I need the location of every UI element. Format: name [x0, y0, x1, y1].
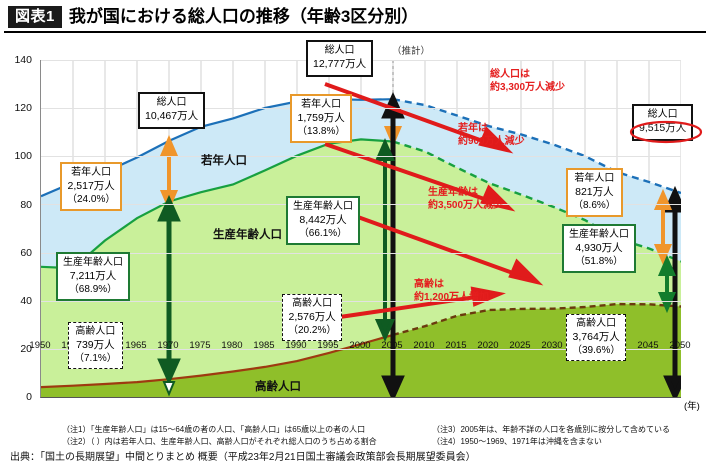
callout-working-2005-share: （66.1%） [299, 228, 347, 239]
callout-elderly-1970-label: 高齢人口 [75, 326, 115, 337]
gridline-120 [41, 108, 681, 109]
callout-working-2050-label: 生産年齢人口 [569, 229, 629, 240]
callout-working-2005: 生産年齢人口 8,442万人 （66.1%） [286, 196, 360, 245]
xtick-2045: 2045 [630, 340, 666, 351]
figure-badge: 図表1 [8, 6, 62, 28]
projection-tag: （推計） [392, 43, 430, 57]
callout-young-2050-value: 821万人 [575, 186, 614, 198]
callout-working-1970-share: （68.9%） [69, 284, 117, 295]
note-2: （注2）（ ）内は若年人口、生産年齢人口、高齢人口がそれぞれ総人口のうち占める割… [62, 436, 377, 448]
source-line: 出典：「国土の長期展望」中間とりまとめ 概要（平成23年2月21日国土審議会政策… [10, 448, 476, 463]
x-axis-unit: (年) [684, 398, 700, 412]
ytick-100: 100 [6, 150, 32, 162]
series-label-elderly: 高齢人口 [255, 378, 301, 394]
callout-working-2050: 生産年齢人口 4,930万人 （51.8%） [562, 224, 636, 273]
note-3: （注3）2005年は、年齢不詳の人口を各歳別に按分して含めている [432, 424, 670, 436]
xtick-1965: 1965 [118, 340, 154, 351]
xtick-2005: 2005 [374, 340, 410, 351]
callout-young-1970: 若年人口 2,517万人 （24.0%） [60, 162, 122, 211]
xtick-1970: 1970 [150, 340, 186, 351]
callout-working-1970: 生産年齢人口 7,211万人 （68.9%） [56, 252, 130, 301]
xtick-1950: 1950 [22, 340, 58, 351]
note-1: （注1）「生産年齢人口」は15～64歳の者の人口、「高齢人口」は65歳以上の者の… [62, 424, 365, 436]
ytick-0: 0 [6, 391, 32, 403]
ytick-120: 120 [6, 102, 32, 114]
xtick-1975: 1975 [182, 340, 218, 351]
xtick-1995: 1995 [310, 340, 346, 351]
ytick-60: 60 [6, 247, 32, 259]
red-note-young: 若年は 約900万人減少 [458, 122, 525, 148]
callout-young-2005-value: 1,759万人 [298, 112, 345, 124]
callout-total-1970-label: 総人口 [157, 97, 187, 108]
callout-working-2005-label: 生産年齢人口 [293, 201, 353, 212]
xtick-2015: 2015 [438, 340, 474, 351]
callout-working-2050-share: （51.8%） [575, 256, 623, 267]
callout-total-1970-value: 10,467万人 [145, 110, 198, 122]
red-note-young-line2: 約900万人減少 [458, 136, 525, 147]
xtick-2000: 2000 [342, 340, 378, 351]
gridline-40 [41, 301, 681, 302]
callout-elderly-1970: 高齢人口 739万人 （7.1%） [68, 322, 123, 369]
xtick-2010: 2010 [406, 340, 442, 351]
red-note-elderly-line2: 約1,200万人増加 [414, 292, 489, 303]
callout-elderly-2005: 高齢人口 2,576万人 （20.2%） [282, 294, 342, 341]
xtick-2030: 2030 [534, 340, 570, 351]
series-label-young: 若年人口 [201, 152, 247, 168]
callout-elderly-2005-value: 2,576万人 [289, 311, 336, 323]
series-label-working: 生産年齢人口 [213, 226, 282, 242]
red-note-working-line2: 約3,500万人減少 [428, 200, 503, 211]
callout-elderly-1970-value: 739万人 [76, 339, 115, 351]
red-note-working-line1: 生産年齢は [428, 187, 478, 198]
callout-total-peak: 総人口 12,777万人 [306, 40, 373, 77]
callout-elderly-2005-label: 高齢人口 [292, 298, 332, 309]
callout-young-1970-share: （24.0%） [67, 194, 115, 205]
callout-elderly-2050-value: 3,764万人 [573, 331, 620, 343]
callout-working-2005-value: 8,442万人 [299, 214, 346, 226]
callout-young-2005-label: 若年人口 [301, 99, 341, 110]
callout-working-2050-value: 4,930万人 [575, 242, 622, 254]
callout-young-2050-share: （8.6%） [573, 200, 616, 211]
callout-young-2005: 若年人口 1,759万人 （13.8%） [290, 94, 352, 143]
xtick-2050: 2050 [662, 340, 698, 351]
callout-young-2050-label: 若年人口 [574, 173, 614, 184]
callout-elderly-2050-share: （39.6%） [572, 345, 620, 356]
callout-young-1970-label: 若年人口 [71, 167, 111, 178]
note-4: （注4）1950～1969、1971年は沖縄を含まない [432, 436, 602, 448]
callout-young-2050: 若年人口 821万人 （8.6%） [566, 168, 623, 217]
figure-title: 我が国における総人口の推移（年齢3区分別） [69, 7, 418, 27]
callout-total-1970: 総人口 10,467万人 [138, 92, 205, 129]
ytick-140: 140 [6, 54, 32, 66]
callout-young-2005-share: （13.8%） [297, 126, 345, 137]
xtick-1990: 1990 [278, 340, 314, 351]
callout-elderly-2005-share: （20.2%） [288, 325, 336, 336]
callout-total-peak-label: 総人口 [325, 45, 355, 56]
callout-working-1970-value: 7,211万人 [70, 270, 117, 282]
callout-total-2050-label: 総人口 [648, 109, 678, 120]
ytick-40: 40 [6, 295, 32, 307]
red-note-elderly-line1: 高齢は [414, 279, 444, 290]
red-note-total-line2: 約3,300万人減少 [490, 82, 565, 93]
xtick-2020: 2020 [470, 340, 506, 351]
xtick-1980: 1980 [214, 340, 250, 351]
red-note-total-line1: 総人口は [490, 69, 530, 80]
xtick-1985: 1985 [246, 340, 282, 351]
callout-elderly-2050-label: 高齢人口 [576, 318, 616, 329]
xtick-2025: 2025 [502, 340, 538, 351]
red-note-total: 総人口は 約3,300万人減少 [490, 68, 565, 94]
red-note-working: 生産年齢は 約3,500万人減少 [428, 186, 503, 212]
red-note-young-line1: 若年は [458, 123, 488, 134]
callout-elderly-2050: 高齢人口 3,764万人 （39.6%） [566, 314, 626, 361]
callout-elderly-1970-share: （7.1%） [74, 353, 117, 364]
page-title: 図表1 我が国における総人口の推移（年齢3区分別） [8, 6, 418, 28]
callout-young-1970-value: 2,517万人 [68, 180, 115, 192]
red-oval-2050 [628, 120, 704, 144]
ytick-80: 80 [6, 199, 32, 211]
title-divider [4, 31, 706, 33]
red-note-elderly: 高齢は 約1,200万人増加 [414, 278, 489, 304]
callout-total-peak-value: 12,777万人 [313, 58, 366, 70]
gridline-100 [41, 156, 681, 157]
callout-working-1970-label: 生産年齢人口 [63, 257, 123, 268]
